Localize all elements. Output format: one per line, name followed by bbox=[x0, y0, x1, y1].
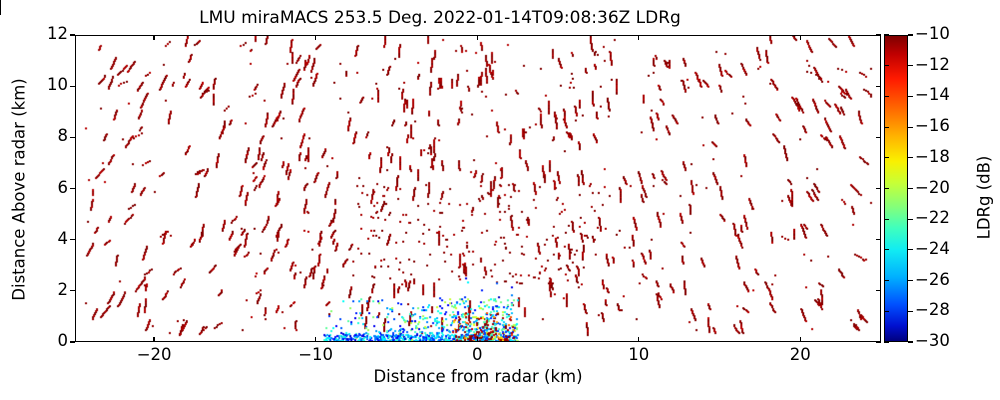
colorbar-tick-mark bbox=[908, 341, 913, 342]
y-tick-mark bbox=[70, 341, 75, 342]
colorbar-tick-label: −20 bbox=[915, 178, 950, 197]
x-tick-label: 0 bbox=[447, 345, 507, 364]
x-tick-mark-top bbox=[153, 35, 154, 40]
y-tick-mark bbox=[70, 137, 75, 138]
y-tick-mark-right bbox=[876, 137, 881, 138]
colorbar-tick-mark-left bbox=[884, 34, 889, 35]
colorbar-tick-label: −16 bbox=[915, 116, 950, 135]
y-tick-mark bbox=[70, 239, 75, 240]
colorbar-tick-label: −10 bbox=[915, 24, 950, 43]
x-tick-label: 20 bbox=[770, 345, 830, 364]
x-tick-mark-top bbox=[800, 35, 801, 40]
colorbar-tick-mark-left bbox=[884, 280, 889, 281]
colorbar-tick-mark bbox=[908, 188, 913, 189]
y-tick-mark bbox=[70, 290, 75, 291]
colorbar-tick-label: −26 bbox=[915, 270, 950, 289]
x-tick-label: −20 bbox=[124, 345, 184, 364]
x-tick-mark bbox=[153, 337, 154, 342]
y-axis-title: Distance Above radar (km) bbox=[10, 30, 29, 350]
plot-axes-area bbox=[75, 35, 881, 342]
colorbar-tick-mark-left bbox=[884, 341, 889, 342]
colorbar-tick-label: −14 bbox=[915, 85, 950, 104]
y-tick-mark bbox=[70, 188, 75, 189]
colorbar-tick-label: −24 bbox=[915, 239, 950, 258]
colorbar-tick-mark-left bbox=[884, 96, 889, 97]
colorbar-tick-mark bbox=[908, 280, 913, 281]
colorbar-tick-mark-left bbox=[884, 311, 889, 312]
colorbar-tick-mark-left bbox=[884, 127, 889, 128]
chart-title: LMU miraMACS 253.5 Deg. 2022-01-14T09:08… bbox=[0, 8, 880, 28]
y-tick-mark bbox=[70, 34, 75, 35]
colorbar-tick-mark-left bbox=[884, 219, 889, 220]
x-tick-mark bbox=[477, 337, 478, 342]
y-tick-mark-right bbox=[876, 188, 881, 189]
colorbar-tick-mark bbox=[908, 127, 913, 128]
colorbar-tick-mark bbox=[908, 157, 913, 158]
x-tick-label: −10 bbox=[286, 345, 346, 364]
colorbar-tick-mark bbox=[908, 65, 913, 66]
colorbar-tick-mark-left bbox=[884, 157, 889, 158]
x-tick-mark bbox=[315, 337, 316, 342]
colorbar-tick-mark bbox=[908, 311, 913, 312]
colorbar-tick-label: −18 bbox=[915, 147, 950, 166]
y-tick-mark-right bbox=[876, 34, 881, 35]
colorbar-tick-mark-left bbox=[884, 188, 889, 189]
colorbar-tick-label: −22 bbox=[915, 208, 950, 227]
y-tick-mark-right bbox=[876, 239, 881, 240]
colorbar-tick-label: −28 bbox=[915, 300, 950, 319]
y-tick-mark-right bbox=[876, 86, 881, 87]
scatter-plot-canvas bbox=[76, 36, 880, 341]
y-tick-mark-right bbox=[876, 341, 881, 342]
colorbar-tick-mark bbox=[908, 249, 913, 250]
colorbar-tick-mark bbox=[908, 34, 913, 35]
x-tick-mark bbox=[800, 337, 801, 342]
colorbar-tick-label: −12 bbox=[915, 55, 950, 74]
x-tick-mark-top bbox=[477, 35, 478, 40]
x-tick-mark-top bbox=[638, 35, 639, 40]
colorbar-tick-mark bbox=[908, 96, 913, 97]
colorbar-tick-mark-left bbox=[884, 249, 889, 250]
y-tick-mark-right bbox=[876, 290, 881, 291]
figure-canvas: LMU miraMACS 253.5 Deg. 2022-01-14T09:08… bbox=[0, 0, 1000, 400]
x-tick-mark-top bbox=[315, 35, 316, 40]
x-tick-label: 10 bbox=[609, 345, 669, 364]
colorbar-tick-label: −30 bbox=[915, 331, 950, 350]
y-tick-mark bbox=[70, 86, 75, 87]
colorbar-title: LDRg (dB) bbox=[975, 38, 994, 358]
x-axis-title: Distance from radar (km) bbox=[75, 367, 881, 386]
colorbar-tick-mark-left bbox=[884, 65, 889, 66]
colorbar-tick-mark bbox=[908, 219, 913, 220]
x-tick-mark bbox=[638, 337, 639, 342]
